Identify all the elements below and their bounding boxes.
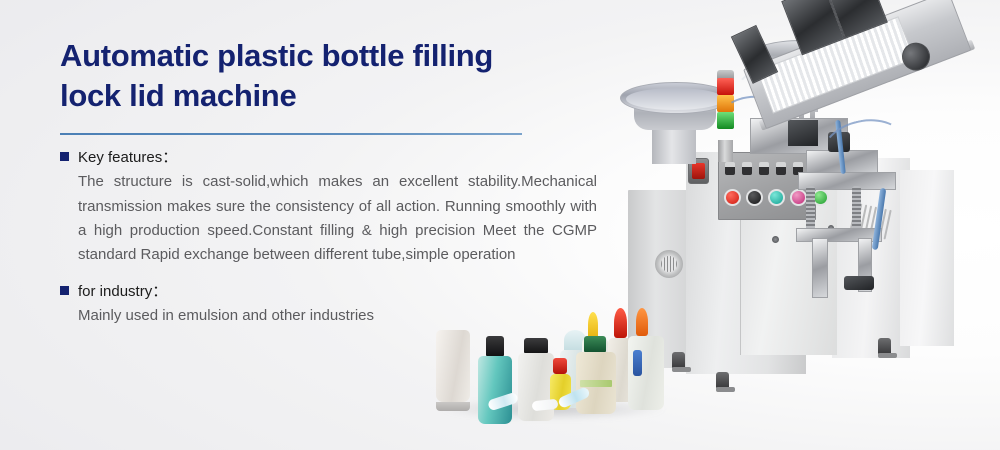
support-post xyxy=(812,238,828,298)
square-bullet-icon xyxy=(60,152,69,161)
product-banner: Automatic plastic bottle filling lock li… xyxy=(0,0,1000,450)
title-divider xyxy=(60,133,522,135)
bottle-orange-tip xyxy=(628,308,664,410)
bottle-green-cap xyxy=(576,336,616,414)
bullet-label: for industry： xyxy=(78,283,167,302)
text-column: Automatic plastic bottle filling lock li… xyxy=(60,36,620,344)
bottle-teal-flask xyxy=(478,336,512,424)
spring-guard xyxy=(852,186,861,230)
square-bullet-icon xyxy=(60,286,69,295)
fan-grille-icon xyxy=(655,250,683,278)
feature-body-text: The structure is cast-solid,which makes … xyxy=(78,170,597,267)
feature-section-key-features: Key features： The structure is cast-soli… xyxy=(60,149,620,268)
leveling-foot xyxy=(716,372,735,392)
leveling-foot xyxy=(672,352,691,372)
bullet-row: for industry： xyxy=(60,283,620,302)
bottle-tube-white xyxy=(436,330,470,411)
magazine-panel xyxy=(731,25,778,84)
push-button-red[interactable] xyxy=(724,189,741,206)
bullet-row: Key features： xyxy=(60,149,620,168)
door-latch xyxy=(772,236,779,243)
machine-cabinet-far-right xyxy=(900,170,954,346)
mechanism-block xyxy=(844,276,874,290)
leveling-foot xyxy=(878,338,897,358)
bottles-cluster xyxy=(430,300,670,420)
page-title: Automatic plastic bottle filling lock li… xyxy=(60,36,620,117)
bullet-label: Key features： xyxy=(78,149,177,168)
bowl-feeder-column xyxy=(652,124,696,164)
